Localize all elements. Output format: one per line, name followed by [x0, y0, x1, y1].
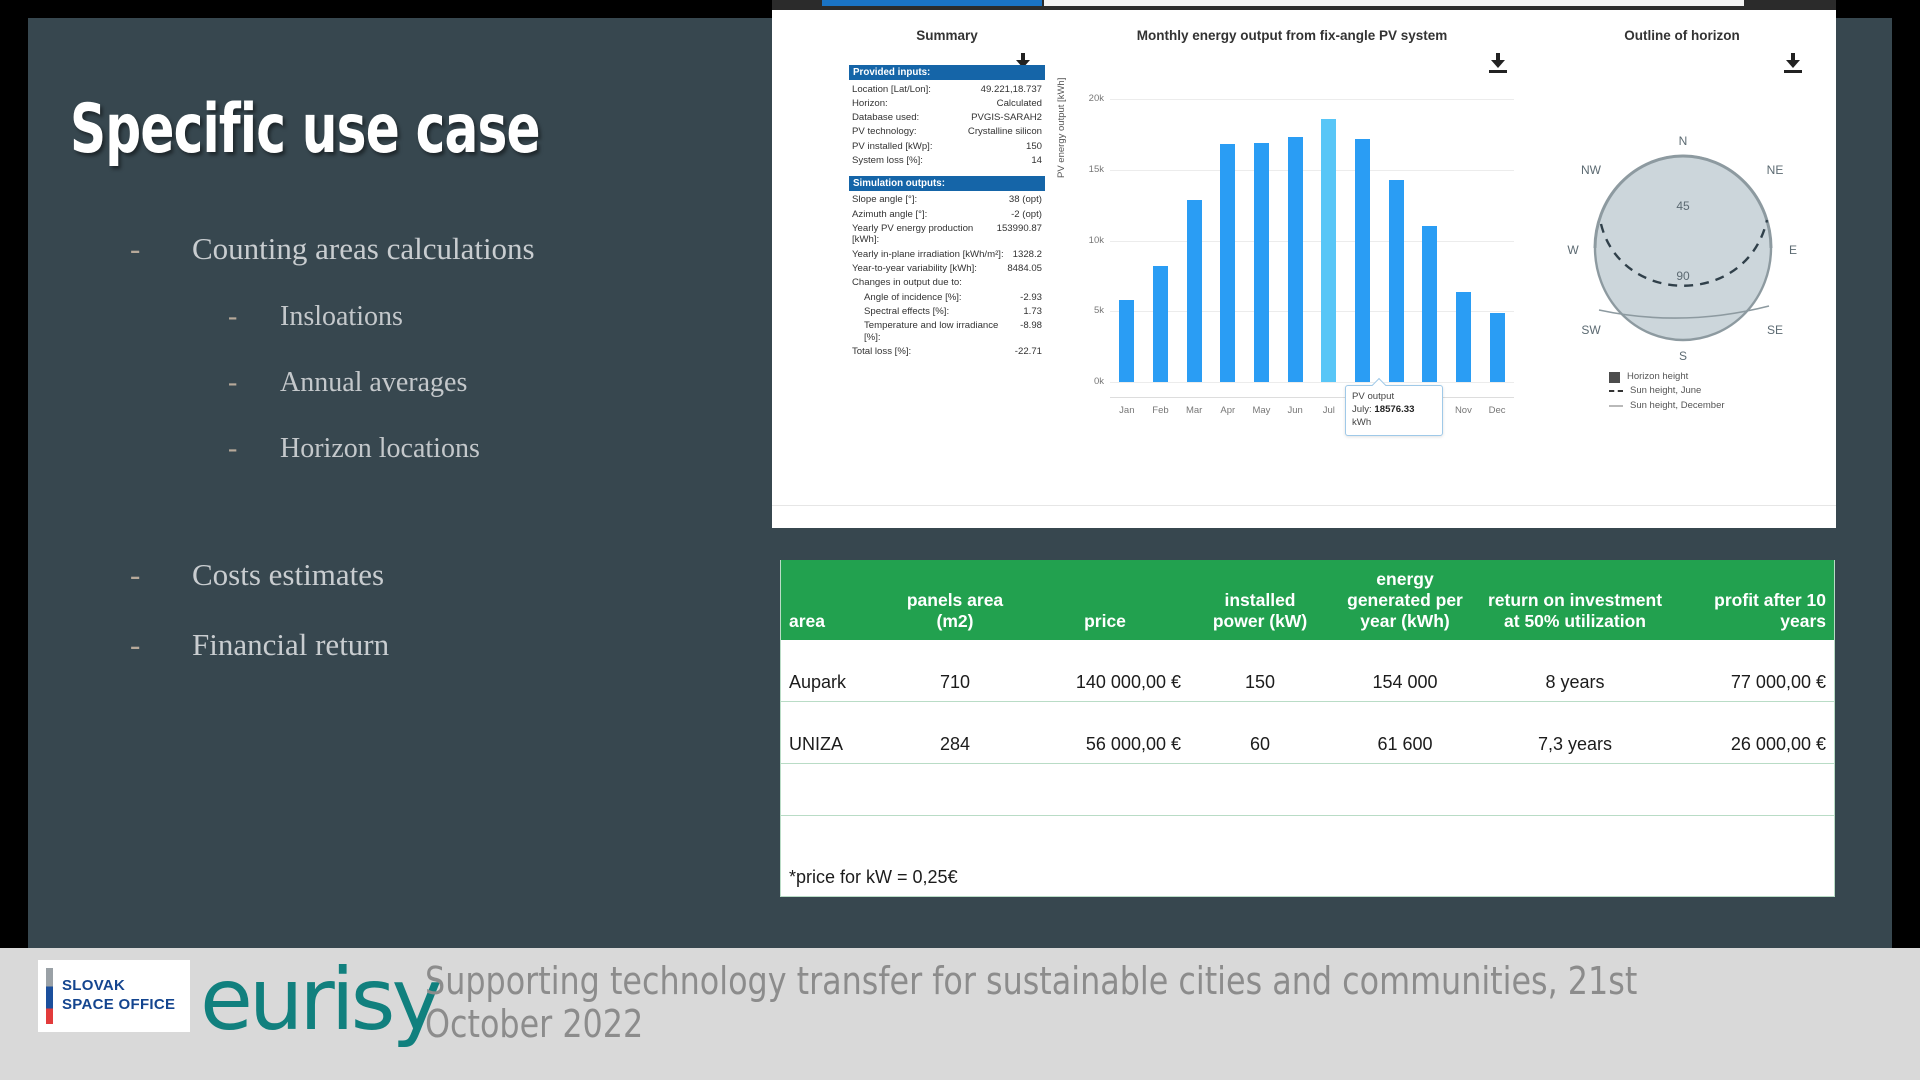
chart-x-tick: Jun [1281, 405, 1309, 416]
cell-roi: 7,3 years [1479, 728, 1671, 763]
table-footnote-row: *price for kW = 0,25€ [781, 816, 1834, 896]
chart-bar-feb[interactable] [1153, 266, 1168, 382]
price-note: *price for kW = 0,25€ [781, 861, 966, 896]
pvgis-panel: Summary Provided inputs: Location [Lat/L… [772, 0, 1836, 528]
inactive-tab-indicator [1044, 0, 1744, 6]
table-row: Yearly in-plane irradiation [kWh/m²]:132… [849, 247, 1045, 261]
chart-y-tick: 20k [1070, 93, 1104, 104]
svg-text:N: N [1679, 134, 1688, 148]
list-item: - Horizon locations [228, 433, 770, 465]
svg-text:SE: SE [1767, 323, 1783, 337]
row-value: Crystalline silicon [968, 126, 1042, 137]
table-row: Temperature and low irradiance [%]:-8.98 [849, 319, 1045, 345]
tooltip-value: 18576.33 [1374, 404, 1414, 415]
row-key: Location [Lat/Lon]: [852, 84, 981, 95]
chart-bar-jun[interactable] [1288, 137, 1303, 382]
row-value: 153990.87 [997, 223, 1042, 234]
tooltip-unit: kWh [1352, 417, 1371, 428]
column-header-roi: return on investment at 50% utilization [1487, 590, 1663, 632]
row-key: Angle of incidence [%]: [852, 292, 1020, 303]
row-key: Spectral effects [%]: [852, 306, 1023, 317]
bullet-dash: - [130, 627, 192, 663]
list-item: - Annual averages [228, 367, 770, 399]
chart-bar-nov[interactable] [1456, 292, 1471, 382]
chart-y-tick: 15k [1070, 164, 1104, 175]
table-row: PV technology:Crystalline silicon [849, 125, 1045, 139]
chart-bar-mar[interactable] [1187, 200, 1202, 382]
bullet-dash: - [228, 301, 280, 333]
page-title: Specific use case [70, 90, 644, 169]
solid-line-swatch-icon [1609, 405, 1623, 407]
cell-panels: 710 [889, 666, 1021, 701]
chart-bars [1110, 78, 1514, 382]
bullet-text: Insloations [280, 301, 403, 333]
table-row: Angle of incidence [%]:-2.93 [849, 290, 1045, 304]
table-row: Horizon:Calculated [849, 96, 1045, 110]
chart-x-tick: Feb [1146, 405, 1174, 416]
legend-item: Sun height, June [1609, 384, 1725, 398]
slide-footer: SLOVAK SPACE OFFICE eurisy Supporting te… [0, 948, 1920, 1080]
chart-y-tick: 10k [1070, 235, 1104, 246]
horizon-legend: Horizon height Sun height, June Sun heig… [1609, 370, 1725, 413]
chart-plot-area: 0k5k10k15k20k [1110, 78, 1514, 382]
chart-x-tick: Jan [1113, 405, 1141, 416]
cost-estimate-table: area panels area (m2) price installed po… [780, 560, 1835, 897]
row-value: 49.221,18.737 [981, 84, 1042, 95]
bullet-text: Horizon locations [280, 433, 480, 465]
table-row: Database used:PVGIS-SARAH2 [849, 111, 1045, 125]
chart-gridline [1110, 382, 1514, 383]
chart-x-axis [1110, 397, 1514, 398]
chart-bar-dec[interactable] [1490, 313, 1505, 382]
monthly-energy-bar-chart: PV energy output [kWh] 0k5k10k15k20k Jan… [1062, 60, 1522, 420]
row-value: 1328.2 [1013, 249, 1042, 260]
column-header-energy-generated: energy generated per year (kWh) [1339, 569, 1471, 632]
presentation-slide: Specific use case - Counting areas calcu… [0, 0, 1920, 1080]
chart-bar-oct[interactable] [1422, 226, 1437, 382]
svg-text:NE: NE [1767, 163, 1784, 177]
column-header-price: price [1084, 611, 1126, 632]
table-row: Changes in output due to: [849, 276, 1045, 290]
cell-area: Aupark [781, 666, 889, 701]
chart-y-axis-label: PV energy output [kWh] [1056, 78, 1067, 178]
panel-divider [772, 505, 1836, 506]
cell-roi: 8 years [1479, 666, 1671, 701]
legend-label: Sun height, June [1630, 384, 1701, 398]
slide-left-column: Specific use case - Counting areas calcu… [70, 90, 770, 697]
svg-text:NW: NW [1581, 163, 1602, 177]
chart-x-tick-labels: JanFebMarAprMayJunJulAugSepOctNovDec [1110, 405, 1514, 416]
row-value: -2.93 [1020, 292, 1042, 303]
active-tab-indicator [822, 0, 1042, 6]
cell-energy: 154 000 [1331, 666, 1479, 701]
bullet-text: Counting areas calculations [192, 231, 535, 267]
svg-text:W: W [1567, 243, 1579, 257]
cell-energy: 61 600 [1331, 728, 1479, 763]
cell-area: UNIZA [781, 728, 889, 763]
row-value: -2 (opt) [1011, 209, 1042, 220]
chart-x-tick: Jul [1315, 405, 1343, 416]
row-value: 150 [1026, 141, 1042, 152]
column-header-area: area [789, 611, 825, 632]
legend-item: Horizon height [1609, 370, 1725, 384]
table-row: Location [Lat/Lon]:49.221,18.737 [849, 82, 1045, 96]
row-key: Yearly PV energy production [kWh]: [852, 223, 997, 246]
chart-bar-may[interactable] [1254, 143, 1269, 382]
dashed-line-swatch-icon [1609, 390, 1623, 392]
list-item: - Insloations [228, 301, 770, 333]
column-header-profit: profit after 10 years [1679, 590, 1826, 632]
table-row-empty [781, 764, 1834, 816]
table-row: System loss [%]:14 [849, 154, 1045, 168]
chart-x-tick: Apr [1214, 405, 1242, 416]
svg-text:S: S [1679, 349, 1687, 363]
footer-event-text: Supporting technology transfer for susta… [425, 960, 1746, 1045]
bullet-dash: - [130, 557, 192, 593]
browser-top-bar [772, 0, 1836, 10]
summary-table: Provided inputs: Location [Lat/Lon]:49.2… [849, 65, 1045, 359]
row-value: -22.71 [1015, 346, 1042, 357]
table-row: Slope angle [°]:38 (opt) [849, 193, 1045, 207]
table-row: Total loss [%]:-22.71 [849, 344, 1045, 358]
eurisy-logo: eurisy [200, 950, 438, 1050]
slovak-space-office-logo: SLOVAK SPACE OFFICE [38, 960, 190, 1032]
table-row: UNIZA 284 56 000,00 € 60 61 600 7,3 year… [781, 702, 1834, 764]
horizon-title: Outline of horizon [1547, 28, 1817, 43]
bullet-list: - Counting areas calculations - Insloati… [70, 231, 770, 663]
tooltip-title: PV output [1352, 391, 1436, 404]
chart-tooltip: PV output July: 18576.33 kWh [1345, 385, 1443, 436]
horizon-diagram: 90 45 N NE E SE S SW W NW Horizon height [1547, 60, 1817, 450]
chart-x-tick: Nov [1449, 405, 1477, 416]
row-key: Temperature and low irradiance [%]: [852, 320, 1020, 343]
logo-line-1: SLOVAK [62, 977, 175, 996]
horizon-polar-plot: 90 45 N NE E SE S SW W NW [1565, 128, 1801, 364]
chart-bar-jul[interactable] [1321, 119, 1336, 382]
cell-profit: 77 000,00 € [1671, 666, 1834, 701]
list-item: - Counting areas calculations [130, 231, 770, 267]
row-key: Total loss [%]: [852, 346, 1015, 357]
cell-price: 140 000,00 € [1021, 666, 1189, 701]
row-key: Azimuth angle [°]: [852, 209, 1011, 220]
column-header-installed-power: installed power (kW) [1197, 590, 1323, 632]
row-value: 38 (opt) [1009, 194, 1042, 205]
cell-profit: 26 000,00 € [1671, 728, 1834, 763]
table-row: Azimuth angle [°]:-2 (opt) [849, 207, 1045, 221]
logo-line-2: SPACE OFFICE [62, 996, 175, 1015]
bullet-dash: - [228, 367, 280, 399]
cell-panels: 284 [889, 728, 1021, 763]
table-row: Year-to-year variability [kWh]:8484.05 [849, 261, 1045, 275]
simulation-outputs-header: Simulation outputs: [849, 176, 1045, 191]
bullet-text: Financial return [192, 627, 389, 663]
chart-y-tick: 5k [1070, 305, 1104, 316]
provided-inputs-header: Provided inputs: [849, 65, 1045, 80]
row-value: 8484.05 [1007, 263, 1042, 274]
cell-power: 60 [1189, 728, 1331, 763]
chart-title: Monthly energy output from fix-angle PV … [1062, 28, 1522, 43]
legend-item: Sun height, December [1609, 399, 1725, 413]
svg-text:45: 45 [1676, 199, 1690, 213]
row-key: Horizon: [852, 98, 997, 109]
bullet-text: Costs estimates [192, 557, 384, 593]
chart-y-tick: 0k [1070, 376, 1104, 387]
row-value: Calculated [997, 98, 1042, 109]
chart-x-tick: Mar [1180, 405, 1208, 416]
row-key: Database used: [852, 112, 971, 123]
table-row: Aupark 710 140 000,00 € 150 154 000 8 ye… [781, 640, 1834, 702]
table-row: Spectral effects [%]:1.73 [849, 304, 1045, 318]
svg-text:90: 90 [1676, 269, 1690, 283]
chart-bar-sep[interactable] [1389, 180, 1404, 382]
column-header-panels-area: panels area (m2) [897, 590, 1013, 632]
row-key: Year-to-year variability [kWh]: [852, 263, 1007, 274]
horizon-height-swatch-icon [1609, 372, 1620, 383]
row-key: Slope angle [°]: [852, 194, 1009, 205]
row-value: -8.98 [1020, 320, 1042, 331]
row-key: Yearly in-plane irradiation [kWh/m²]: [852, 249, 1013, 260]
list-item: - Financial return [130, 627, 770, 663]
legend-label: Horizon height [1627, 370, 1688, 384]
table-header-row: area panels area (m2) price installed po… [781, 560, 1834, 640]
table-row: PV installed [kWp]:150 [849, 139, 1045, 153]
bullet-dash: - [228, 433, 280, 465]
row-key: Changes in output due to: [852, 277, 1042, 288]
svg-text:E: E [1789, 243, 1797, 257]
row-value: 14 [1031, 155, 1042, 166]
cell-price: 56 000,00 € [1021, 728, 1189, 763]
cell-power: 150 [1189, 666, 1331, 701]
row-key: System loss [%]: [852, 155, 1031, 166]
row-value: PVGIS-SARAH2 [971, 112, 1042, 123]
summary-column-title: Summary [849, 28, 1045, 43]
chart-bar-jan[interactable] [1119, 300, 1134, 382]
chart-bar-aug[interactable] [1355, 139, 1370, 382]
row-key: PV installed [kWp]: [852, 141, 1026, 152]
tooltip-month: July: [1352, 404, 1372, 415]
svg-text:SW: SW [1581, 323, 1601, 337]
chart-x-tick: Dec [1483, 405, 1511, 416]
bullet-dash: - [130, 231, 192, 267]
bullet-text: Annual averages [280, 367, 467, 399]
chart-x-tick: May [1247, 405, 1275, 416]
table-row: Yearly PV energy production [kWh]:153990… [849, 222, 1045, 248]
legend-label: Sun height, December [1630, 399, 1725, 413]
row-value: 1.73 [1023, 306, 1042, 317]
row-key: PV technology: [852, 126, 968, 137]
chart-bar-apr[interactable] [1220, 144, 1235, 382]
list-item: - Costs estimates [130, 557, 770, 593]
flag-stripe-icon [46, 968, 53, 1024]
